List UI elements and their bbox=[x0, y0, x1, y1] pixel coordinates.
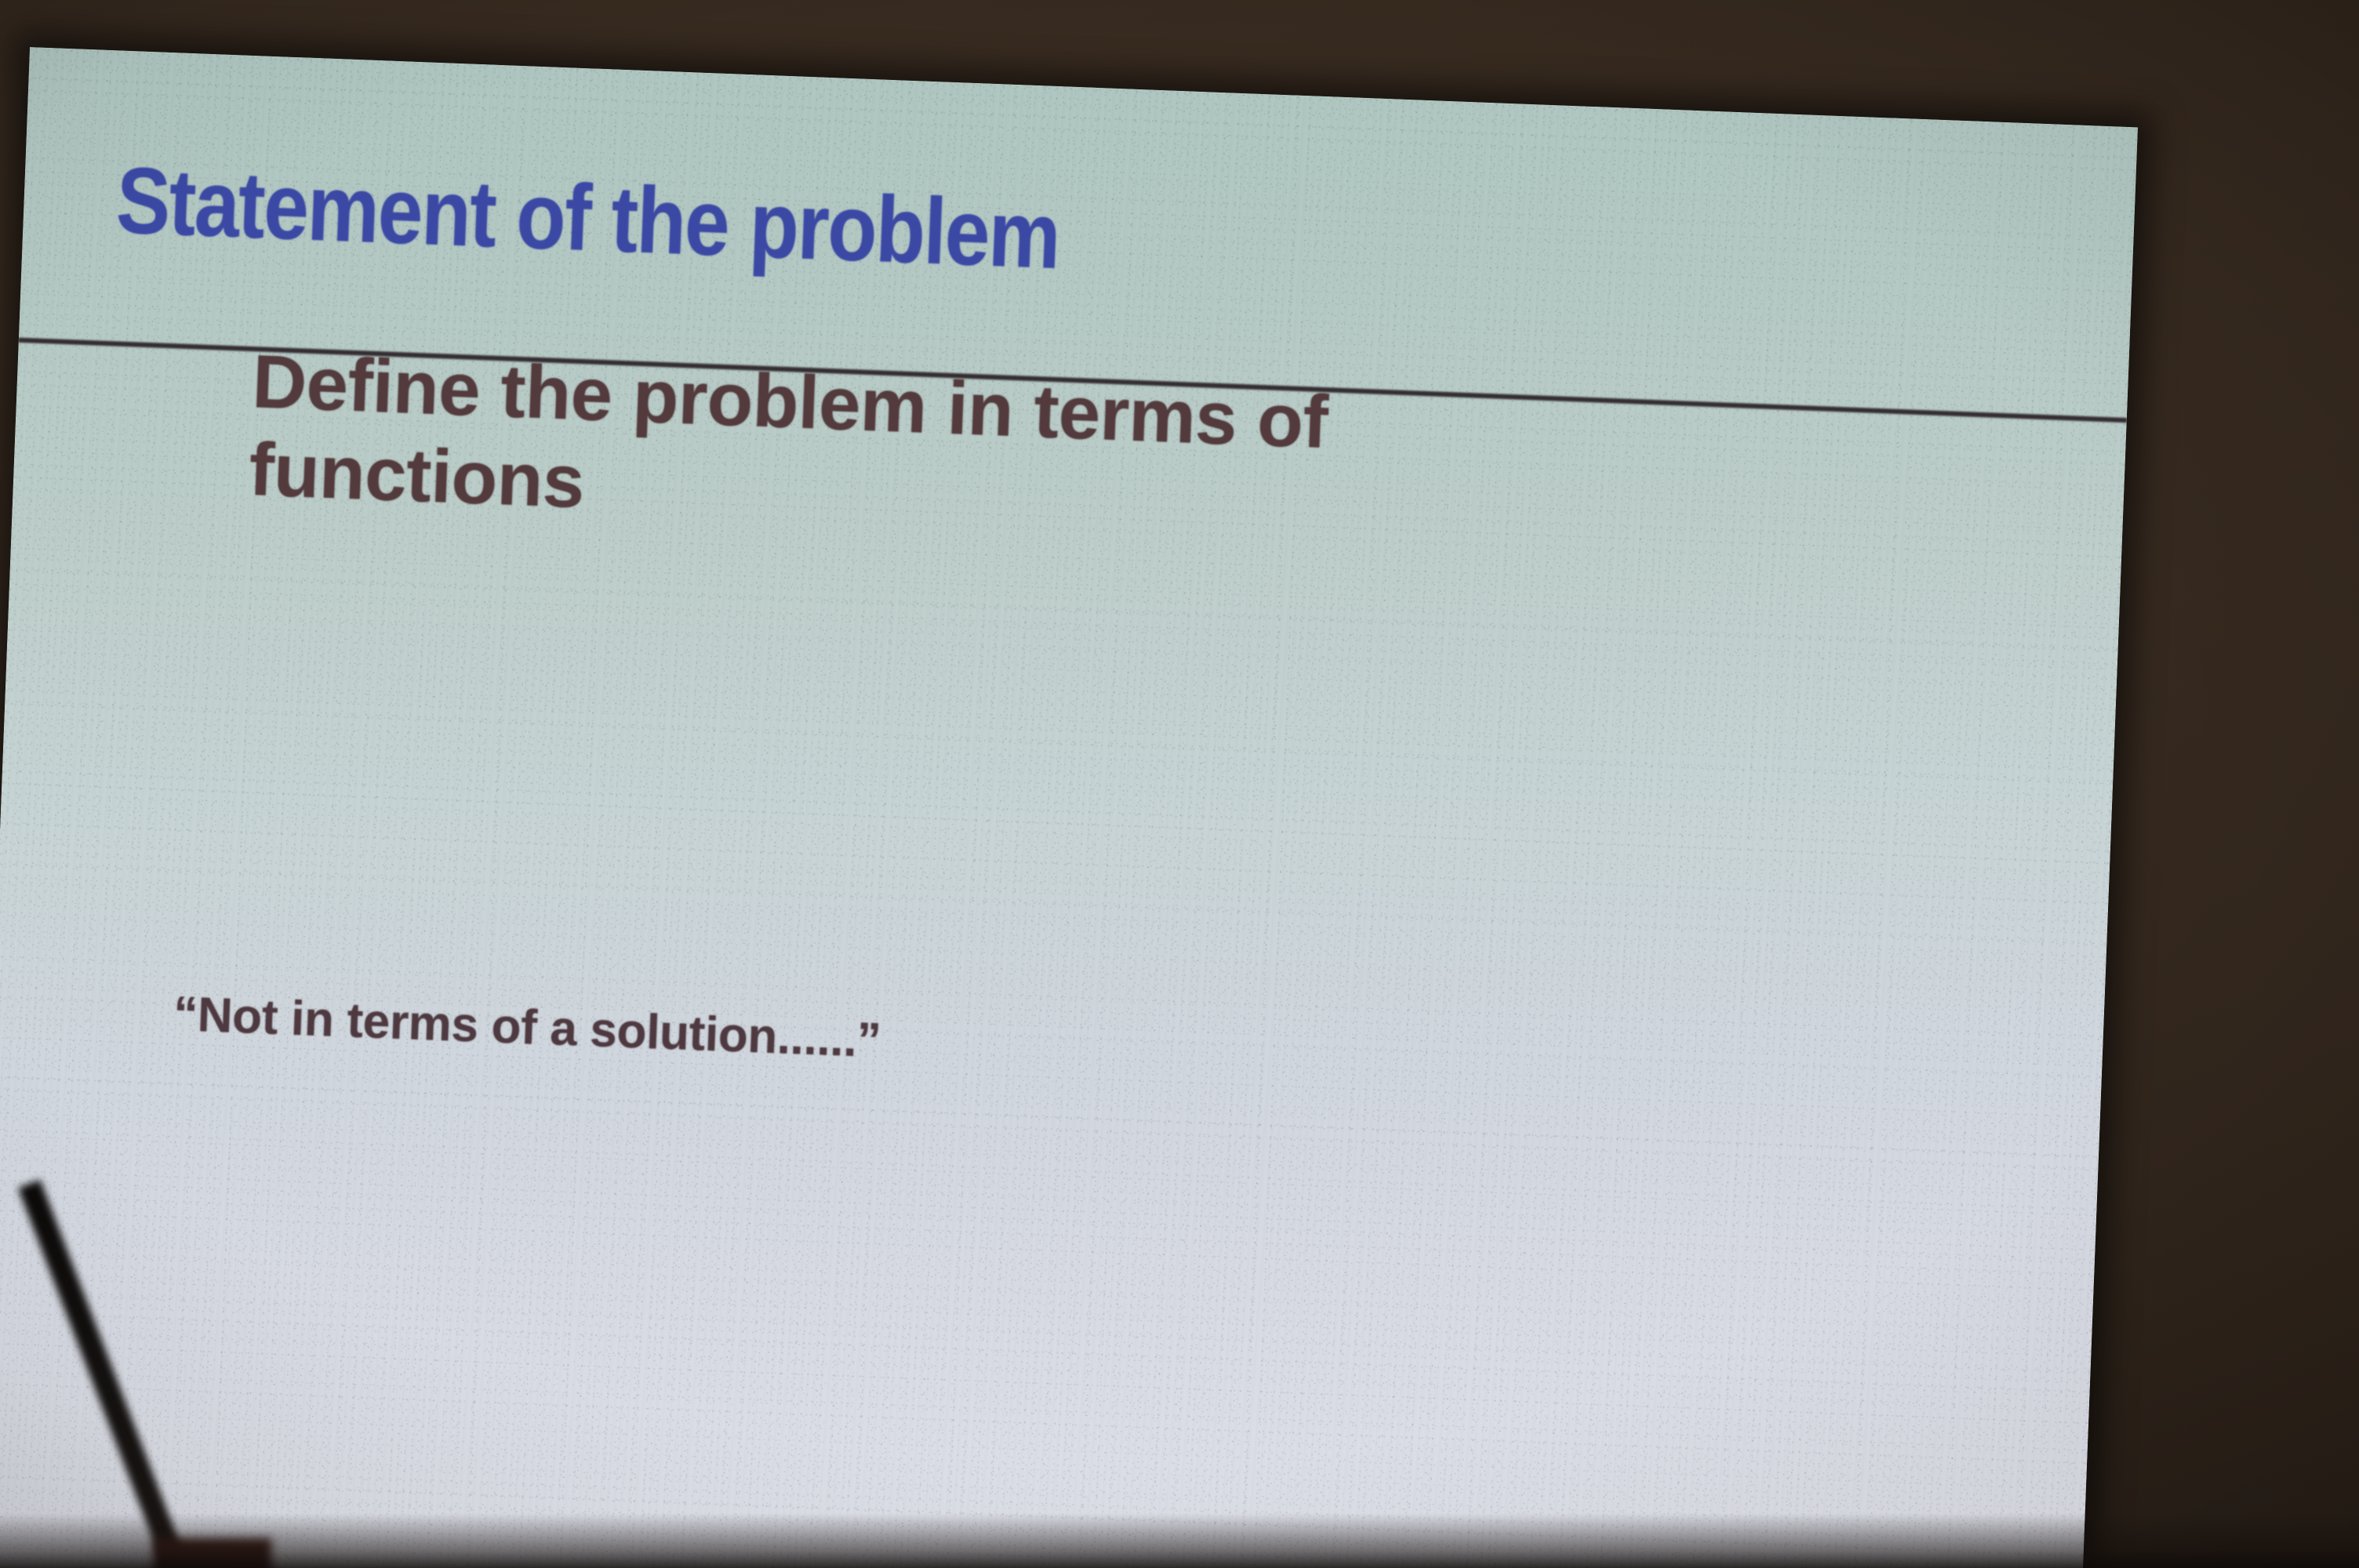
projected-slide-photo: Statement of the problem Define the prob… bbox=[0, 0, 2359, 1568]
slide-vignette bbox=[0, 47, 2138, 1568]
projection-screen: Statement of the problem Define the prob… bbox=[0, 47, 2138, 1568]
foreground-base-block bbox=[154, 1538, 271, 1568]
